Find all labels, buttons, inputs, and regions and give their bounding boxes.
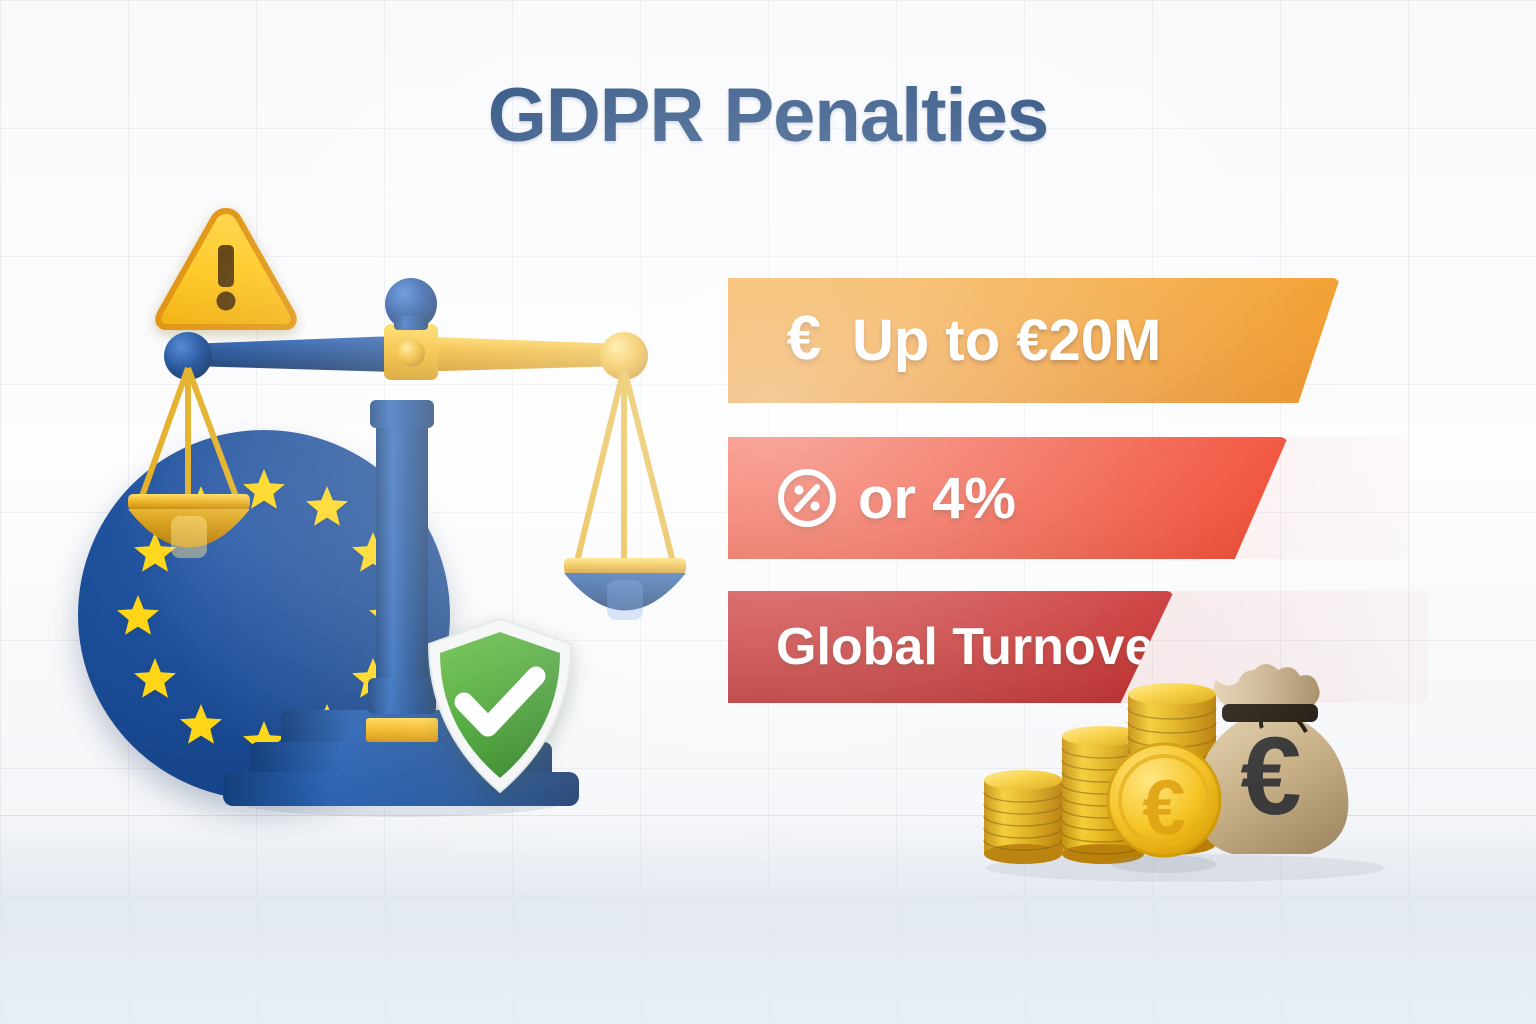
banner-2-label: or 4% (858, 465, 1016, 532)
banner-up-to-20m[interactable]: € Up to €20M (728, 278, 1368, 403)
svg-text:€: € (787, 311, 821, 371)
svg-text:€: € (1142, 763, 1185, 851)
page-title: GDPR Penalties (0, 72, 1536, 159)
banner-1-body[interactable]: € Up to €20M (728, 278, 1340, 403)
banner-2-body[interactable]: or 4% (728, 437, 1288, 559)
banner-1-label: Up to €20M (852, 307, 1161, 374)
percent-circle-icon (776, 467, 838, 529)
shield-check-icon (424, 614, 576, 798)
svg-text:€: € (1240, 715, 1301, 838)
money-group: € € (970, 636, 1400, 886)
banner-or-4-percent[interactable]: or 4% (728, 437, 1408, 559)
infographic-canvas: GDPR Penalties (0, 0, 1536, 1024)
grid-line-horizontal (0, 0, 1536, 1)
euro-icon: € (776, 311, 832, 371)
justice-scale (78, 280, 718, 840)
